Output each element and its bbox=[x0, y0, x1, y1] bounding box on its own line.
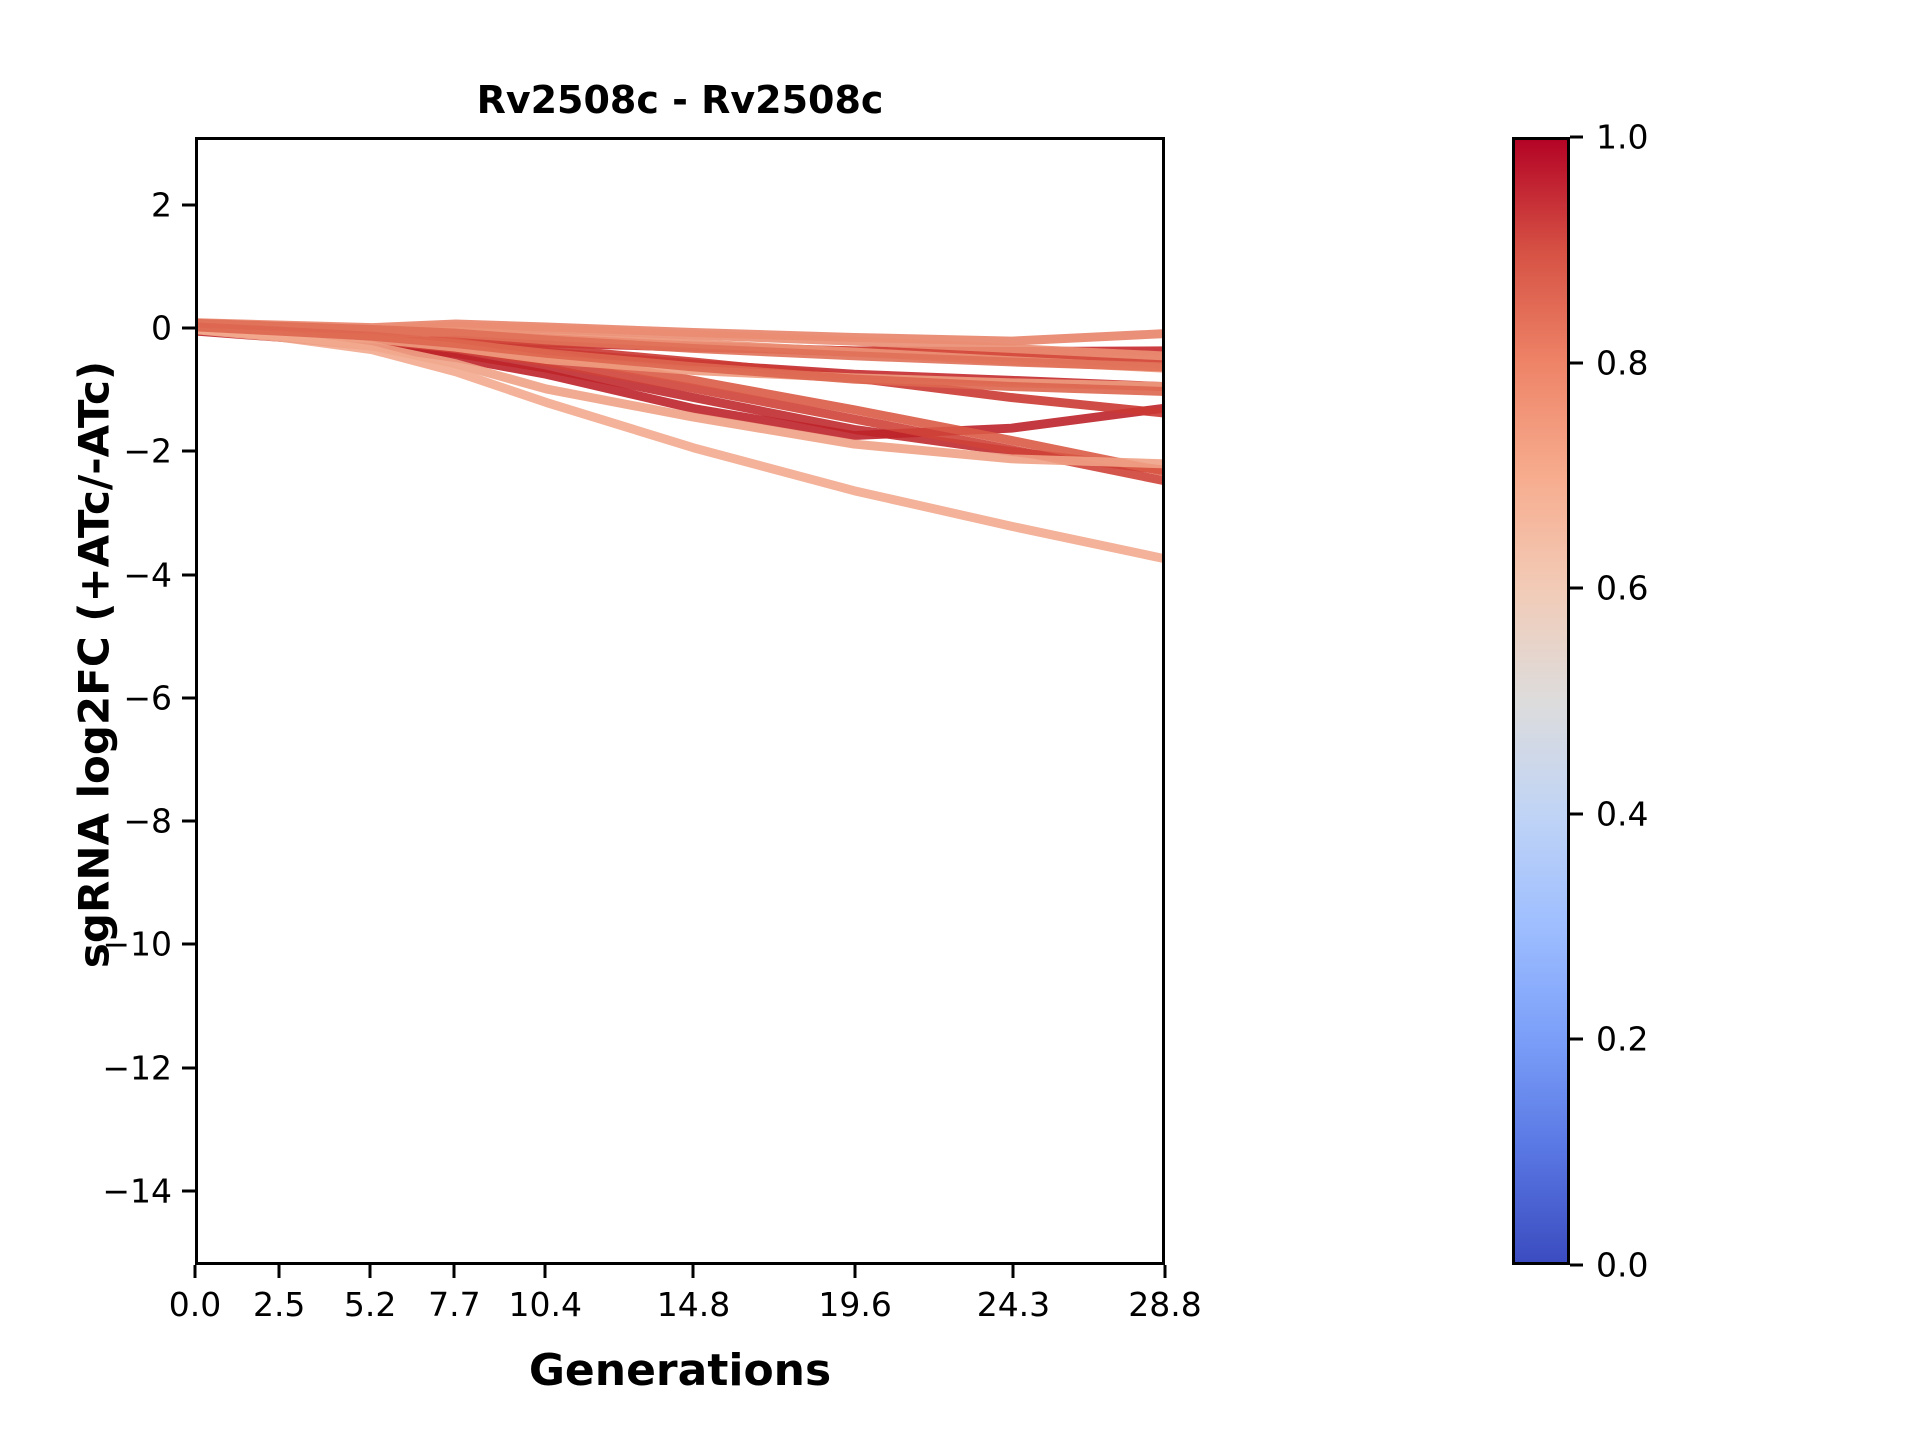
x-axis-tick-mark bbox=[453, 1265, 456, 1278]
colorbar-tick-mark bbox=[1570, 1038, 1583, 1041]
chart-title: Rv2508c - Rv2508c bbox=[195, 78, 1165, 122]
colorbar-tick-label: 0.6 bbox=[1596, 572, 1648, 605]
x-axis-tick-label: 10.4 bbox=[509, 1287, 582, 1323]
x-axis-tick-marks bbox=[195, 1265, 1165, 1281]
colorbar-tick-mark bbox=[1570, 136, 1583, 139]
x-axis-tick-mark bbox=[1164, 1265, 1167, 1278]
x-axis-tick-label: 24.3 bbox=[977, 1287, 1050, 1323]
y-axis-tick-mark bbox=[182, 450, 195, 453]
colorbar-tick-label: 1.0 bbox=[1596, 121, 1648, 154]
x-axis-tick-mark bbox=[692, 1265, 695, 1278]
x-axis-tick-mark bbox=[1012, 1265, 1015, 1278]
figure-canvas: Rv2508c - Rv2508c sgRNA log2FC (+ATc/-AT… bbox=[0, 0, 1920, 1440]
y-axis-tick-mark bbox=[182, 1190, 195, 1193]
y-axis-tick-mark bbox=[182, 696, 195, 699]
x-axis-tick-mark bbox=[854, 1265, 857, 1278]
colorbar-tick-marks bbox=[1512, 137, 1588, 1265]
x-axis-tick-mark bbox=[278, 1265, 281, 1278]
y-axis-tick-mark bbox=[182, 203, 195, 206]
y-axis-tick-mark bbox=[182, 820, 195, 823]
x-axis-tick-labels: 0.02.55.27.710.414.819.624.328.8 bbox=[195, 1287, 1165, 1337]
x-axis-tick-mark bbox=[194, 1265, 197, 1278]
colorbar-tick-mark bbox=[1570, 812, 1583, 815]
x-axis-tick-label: 0.0 bbox=[169, 1287, 221, 1323]
colorbar-tick-mark bbox=[1570, 1264, 1583, 1267]
colorbar-tick-mark bbox=[1570, 361, 1583, 364]
x-axis-tick-label: 19.6 bbox=[818, 1287, 891, 1323]
y-axis-tick-mark bbox=[182, 943, 195, 946]
colorbar-tick-labels: 0.00.20.40.60.81.0 bbox=[1596, 137, 1726, 1265]
plot-area bbox=[195, 137, 1165, 1265]
x-axis-tick-label: 2.5 bbox=[253, 1287, 305, 1323]
colorbar-tick-label: 0.2 bbox=[1596, 1023, 1648, 1056]
colorbar-tick-mark bbox=[1570, 587, 1583, 590]
x-axis-tick-mark bbox=[544, 1265, 547, 1278]
x-axis-tick-label: 14.8 bbox=[657, 1287, 730, 1323]
x-axis-tick-mark bbox=[369, 1265, 372, 1278]
x-axis-tick-label: 7.7 bbox=[428, 1287, 480, 1323]
x-axis-tick-label: 28.8 bbox=[1128, 1287, 1201, 1323]
y-axis-tick-marks bbox=[0, 137, 200, 1265]
y-axis-tick-mark bbox=[182, 327, 195, 330]
colorbar-tick-label: 0.4 bbox=[1596, 797, 1648, 830]
x-axis-label: Generations bbox=[195, 1345, 1165, 1396]
y-axis-tick-mark bbox=[182, 573, 195, 576]
line-series-group bbox=[198, 140, 1162, 1262]
colorbar-tick-label: 0.0 bbox=[1596, 1249, 1648, 1282]
y-axis-tick-mark bbox=[182, 1066, 195, 1069]
colorbar-tick-label: 0.8 bbox=[1596, 346, 1648, 379]
x-axis-tick-label: 5.2 bbox=[344, 1287, 396, 1323]
